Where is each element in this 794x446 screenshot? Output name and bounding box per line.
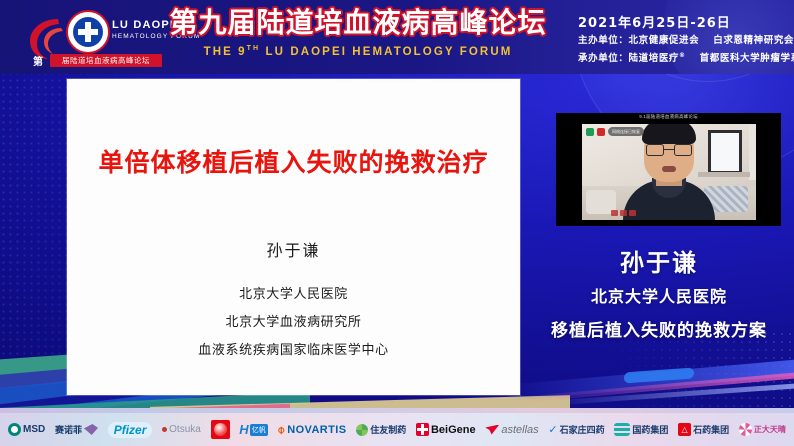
- slide-affiliation-2: 北京大学血液病研究所: [67, 311, 520, 330]
- sponsor-otsuka[interactable]: Otsuka: [162, 424, 201, 435]
- novartis-icon: ⌽: [277, 422, 285, 438]
- sponsor-red-circle[interactable]: [211, 420, 230, 439]
- event-title-en-before: THE 9: [204, 46, 247, 58]
- sponsor-shijiazhuang-label: 石家庄四药: [560, 423, 605, 436]
- sponsor-msd[interactable]: MSD: [8, 423, 45, 436]
- speaker-video-feed[interactable]: 9.1届陆道培血液病高峰论坛 网络连接已恢复: [556, 113, 781, 226]
- event-title-en-ordinal: TH: [247, 45, 261, 52]
- slide-title: 单倍体移植后植入失败的挽救治疗: [67, 143, 520, 179]
- sponsor-sumitomo-label: 住友制药: [370, 423, 406, 436]
- event-title-cn: 第九届陆道培血液病高峰论坛: [168, 6, 548, 40]
- red-circle-icon: [211, 420, 230, 439]
- shijiazhuang-icon: ✓: [548, 423, 557, 436]
- video-window: [708, 130, 742, 174]
- video-title-text: 9.1届陆道培血液病高峰论坛: [556, 114, 781, 120]
- event-date: 2021年6月25日-26日: [578, 12, 731, 31]
- sponsor-pfizer[interactable]: Pfizer: [108, 422, 153, 438]
- event-header: LU DAOPEI HEMATOLOGY FORUM 第 届陆道培血液病高峰论坛…: [0, 0, 794, 74]
- video-windowsill: [698, 172, 750, 177]
- logo-cn-ordinal: 第: [33, 53, 43, 68]
- otsuka-icon: [162, 427, 167, 432]
- host-1: 陆道培医疗: [629, 53, 680, 64]
- host-2: 首都医科大学肿瘤学系: [700, 53, 794, 64]
- video-camera-icon[interactable]: [586, 128, 594, 136]
- video-status-badges[interactable]: 网络连接已恢复: [586, 127, 644, 136]
- host-label: 承办单位：: [578, 53, 629, 64]
- sponsor-cp-tianqing-label: 正大天晴: [754, 424, 786, 435]
- video-person-hair: [642, 124, 696, 144]
- event-hosts: 承办单位：陆道培医疗®首都医科大学肿瘤学系: [578, 50, 794, 64]
- speaker-name: 孙于谦: [524, 243, 794, 278]
- astellas-icon: [485, 425, 499, 435]
- speaker-affiliation: 北京大学人民医院: [524, 283, 794, 307]
- sponsor-yifan[interactable]: H 亿帆: [239, 422, 267, 437]
- cspc-icon: △: [678, 423, 691, 436]
- presentation-slide[interactable]: 单倍体移植后植入失败的挽救治疗 孙于谦 北京大学人民医院 北京大学血液病研究所 …: [67, 79, 520, 395]
- organizer-1: 北京健康促进会: [629, 35, 700, 46]
- sumitomo-icon: [356, 424, 368, 436]
- broadcast-stage: LU DAOPEI HEMATOLOGY FORUM 第 届陆道培血液病高峰论坛…: [0, 0, 794, 446]
- sponsor-msd-label: MSD: [23, 424, 45, 435]
- msd-icon: [8, 423, 21, 436]
- sponsor-sanofi[interactable]: 赛诺菲: [55, 423, 98, 436]
- sponsor-sinopharm[interactable]: 国药集团: [614, 423, 668, 436]
- sponsor-sinopharm-label: 国药集团: [632, 423, 668, 436]
- host-1-registered-mark: ®: [679, 52, 686, 59]
- sponsor-sumitomo[interactable]: 住友制药: [356, 423, 406, 436]
- sponsor-sanofi-label: 赛诺菲: [55, 423, 82, 436]
- sponsor-cp-tianqing[interactable]: 正大天晴: [739, 423, 786, 436]
- video-bottom-indicators: [611, 210, 636, 216]
- sanofi-icon: [84, 424, 98, 435]
- sinopharm-icon: [614, 423, 630, 436]
- sponsor-shijiazhuang[interactable]: ✓ 石家庄四药: [548, 423, 604, 436]
- sponsor-beigene-label: BeiGene: [431, 424, 476, 436]
- sponsor-beigene[interactable]: BeiGene: [416, 423, 476, 436]
- sponsor-yifan-label: 亿帆: [250, 424, 268, 436]
- video-curtain: [749, 124, 756, 180]
- speaker-topic: 移植后植入失败的挽救方案: [524, 316, 794, 341]
- event-organizers: 主办单位：北京健康促进会白求恩精神研究会: [578, 32, 794, 46]
- sponsor-novartis-label: NOVARTIS: [287, 424, 346, 436]
- sponsor-astellas[interactable]: astellas: [485, 424, 538, 436]
- event-title-en: THE 9TH LU DAOPEI HEMATOLOGY FORUM: [168, 45, 548, 58]
- event-title-en-after: LU DAOPEI HEMATOLOGY FORUM: [260, 46, 512, 58]
- sponsor-novartis[interactable]: ⌽ NOVARTIS: [277, 422, 346, 438]
- video-record-icon[interactable]: [597, 128, 605, 136]
- video-frame: [582, 124, 756, 220]
- slide-affiliation-3: 血液系统疾病国家临床医学中心: [67, 339, 520, 358]
- video-person-glasses: [646, 144, 692, 156]
- video-person-mouth: [662, 166, 676, 172]
- lu-daopei-logo: LU DAOPEI HEMATOLOGY FORUM 第 届陆道培血液病高峰论坛: [26, 4, 162, 70]
- beigene-icon: [416, 423, 429, 436]
- slide-affiliation-1: 北京大学人民医院: [67, 283, 520, 302]
- video-status-pill: 网络连接已恢复: [608, 127, 644, 136]
- sponsor-otsuka-label: Otsuka: [162, 424, 201, 435]
- sponsor-astellas-label: astellas: [501, 424, 538, 436]
- sponsor-bar: MSD 赛诺菲 Pfizer Otsuka H 亿帆 ⌽ NOVARTIS: [0, 408, 794, 446]
- organizer-2: 白求恩精神研究会: [713, 35, 794, 46]
- slide-author: 孙于谦: [67, 237, 520, 261]
- sponsor-cspc-label: 石药集团: [693, 423, 729, 436]
- logo-cn-band: 届陆道培血液病高峰论坛: [50, 54, 162, 67]
- sponsor-cspc[interactable]: △ 石药集团: [678, 423, 729, 436]
- yifan-icon: H: [239, 422, 248, 437]
- sponsor-pfizer-label: Pfizer: [108, 422, 153, 438]
- cp-tianqing-icon: [739, 423, 752, 436]
- organizer-label: 主办单位：: [578, 35, 629, 46]
- hematology-emblem-icon: [66, 10, 110, 54]
